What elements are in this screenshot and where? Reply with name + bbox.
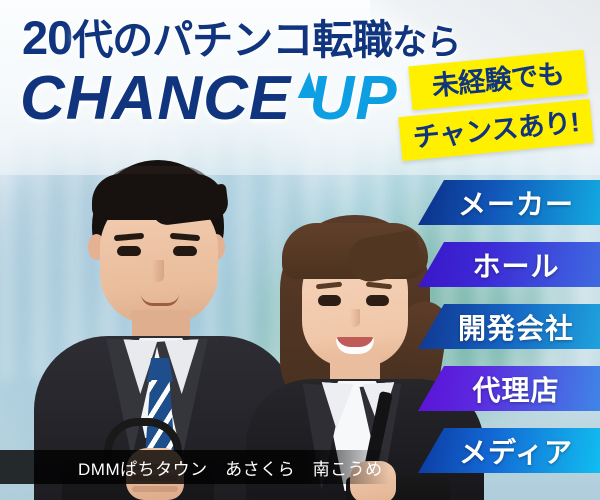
headline-main: 代のパチンコ転職	[72, 17, 392, 63]
credit-caption-text: DMMぱちタウン あさくら 南こうめ	[0, 455, 383, 480]
woman-eye-left	[318, 295, 341, 306]
man-mouth	[141, 294, 179, 306]
category-button-maker[interactable]: メーカー	[418, 180, 600, 225]
category-button-agency[interactable]: 代理店	[418, 366, 600, 411]
category-button-media[interactable]: メディア	[418, 428, 600, 473]
man-nose	[152, 260, 164, 282]
man-eye-left	[117, 246, 141, 256]
brand-logotype: CHANCE UP	[20, 68, 398, 130]
man-eye-right	[173, 246, 197, 256]
category-label: 開発会社	[418, 307, 600, 347]
woman-fringe	[282, 223, 428, 279]
woman-eye-right	[366, 295, 389, 306]
man-tie-knot	[147, 358, 173, 382]
logotype-up: UP	[309, 64, 397, 133]
page-title: 20代のパチンコ転職なら	[22, 14, 460, 61]
man-fringe	[92, 174, 224, 220]
logotype-chance: CHANCE	[20, 64, 309, 133]
category-label: 代理店	[418, 369, 600, 409]
category-label: ホール	[418, 245, 600, 285]
status-badge: 未経験でも チャンスあり!	[396, 56, 596, 164]
category-button-hall[interactable]: ホール	[418, 242, 600, 287]
woman-nose	[350, 309, 360, 327]
recruitment-banner: 20代のパチンコ転職なら CHANCE UP 未経験でも チャンスあり! メーカ…	[0, 0, 600, 500]
category-label: メーカー	[418, 183, 600, 223]
category-button-developer[interactable]: 開発会社	[418, 304, 600, 349]
headline-number: 20	[22, 11, 72, 64]
credit-caption-bar: DMMぱちタウン あさくら 南こうめ	[0, 450, 390, 484]
category-label: メディア	[418, 431, 600, 471]
